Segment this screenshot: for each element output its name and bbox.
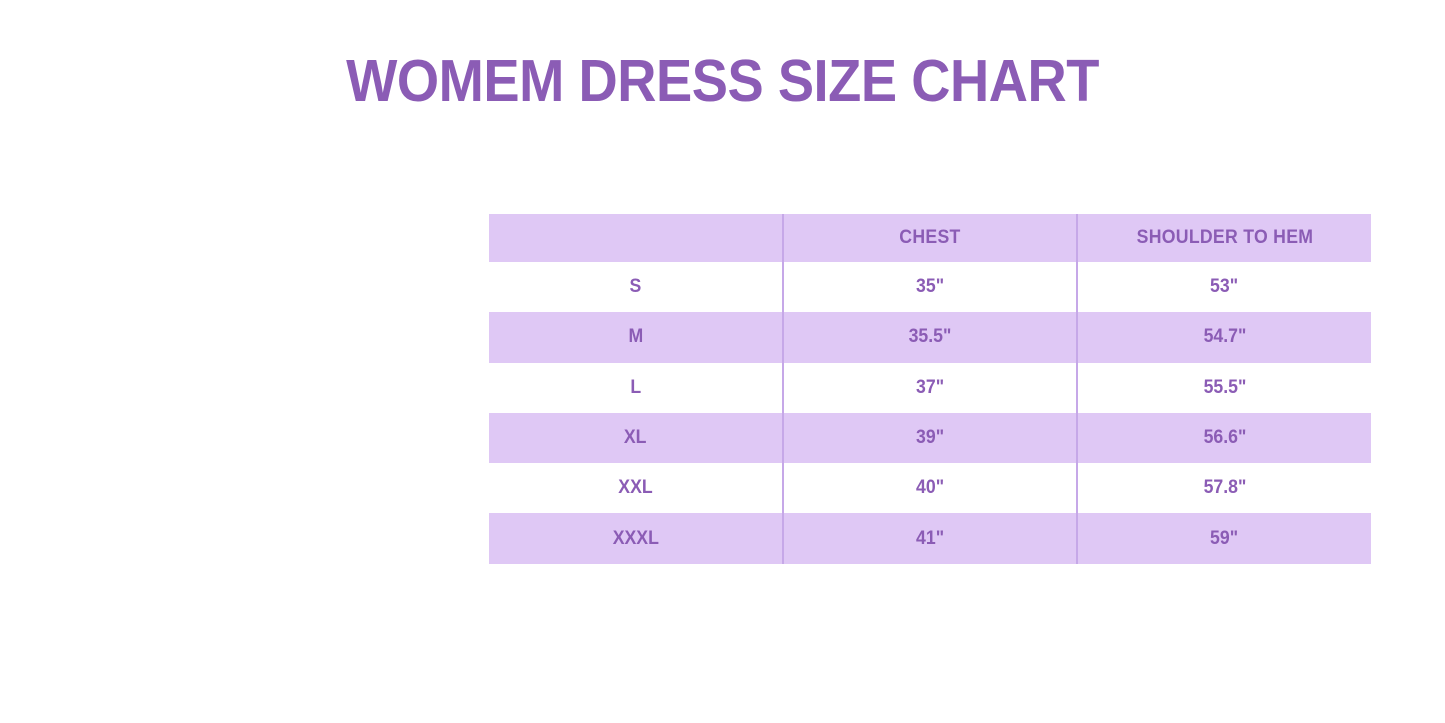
- table-header-row: CHEST SHOULDER TO HEM: [489, 214, 1371, 262]
- size-table-container: CHEST SHOULDER TO HEM S 35" 53": [489, 214, 1371, 566]
- cell-chest-value: 39": [916, 427, 944, 449]
- table-row: XXL 40" 57.8": [489, 463, 1371, 513]
- cell-shoulder-to-hem-value: 59": [1210, 528, 1238, 550]
- cell-shoulder-to-hem-value: 54.7": [1203, 326, 1246, 348]
- cell-size-label: S: [630, 276, 642, 298]
- table-row: M 35.5" 54.7": [489, 312, 1371, 362]
- cell-chest-value: 40": [916, 477, 944, 499]
- table-row: XL 39" 56.6": [489, 413, 1371, 463]
- size-chart-page: WOMEM DRESS SIZE CHART CHEST SHOULDER TO…: [0, 0, 1445, 723]
- table-row: XXXL 41" 59": [489, 513, 1371, 563]
- cell-size-label: XXL: [618, 477, 652, 499]
- cell-size: XXXL: [489, 513, 783, 563]
- table-row: S 35" 53": [489, 262, 1371, 312]
- cell-chest: 37": [783, 363, 1077, 413]
- size-chart-table: CHEST SHOULDER TO HEM S 35" 53": [489, 214, 1371, 564]
- cell-chest-value: 35": [916, 276, 944, 298]
- table-row: L 37" 55.5": [489, 363, 1371, 413]
- cell-chest: 35": [783, 262, 1077, 312]
- cell-size-label: XXXL: [612, 528, 658, 550]
- cell-chest-value: 37": [916, 377, 944, 399]
- cell-shoulder-to-hem: 53": [1077, 262, 1371, 312]
- column-header-size: [489, 214, 783, 262]
- page-title: WOMEM DRESS SIZE CHART: [58, 52, 1387, 111]
- cell-size: L: [489, 363, 783, 413]
- cell-shoulder-to-hem-value: 56.6": [1203, 427, 1246, 449]
- cell-size: XXL: [489, 463, 783, 513]
- cell-shoulder-to-hem-value: 57.8": [1203, 477, 1246, 499]
- cell-shoulder-to-hem: 56.6": [1077, 413, 1371, 463]
- cell-chest: 39": [783, 413, 1077, 463]
- cell-size: S: [489, 262, 783, 312]
- column-header-chest-label: CHEST: [899, 227, 960, 249]
- cell-chest: 35.5": [783, 312, 1077, 362]
- cell-chest: 40": [783, 463, 1077, 513]
- column-header-shoulder-to-hem-label: SHOULDER TO HEM: [1136, 227, 1313, 249]
- cell-size: M: [489, 312, 783, 362]
- cell-shoulder-to-hem-value: 55.5": [1203, 377, 1246, 399]
- cell-size-label: XL: [624, 427, 647, 449]
- cell-chest: 41": [783, 513, 1077, 563]
- cell-shoulder-to-hem: 54.7": [1077, 312, 1371, 362]
- cell-size-label: M: [628, 326, 643, 348]
- cell-shoulder-to-hem-value: 53": [1210, 276, 1238, 298]
- cell-shoulder-to-hem: 55.5": [1077, 363, 1371, 413]
- cell-chest-value: 41": [916, 528, 944, 550]
- cell-shoulder-to-hem: 57.8": [1077, 463, 1371, 513]
- column-header-chest: CHEST: [783, 214, 1077, 262]
- cell-shoulder-to-hem: 59": [1077, 513, 1371, 563]
- cell-chest-value: 35.5": [909, 326, 952, 348]
- column-header-shoulder-to-hem: SHOULDER TO HEM: [1077, 214, 1371, 262]
- cell-size-label: L: [630, 377, 641, 399]
- cell-size: XL: [489, 413, 783, 463]
